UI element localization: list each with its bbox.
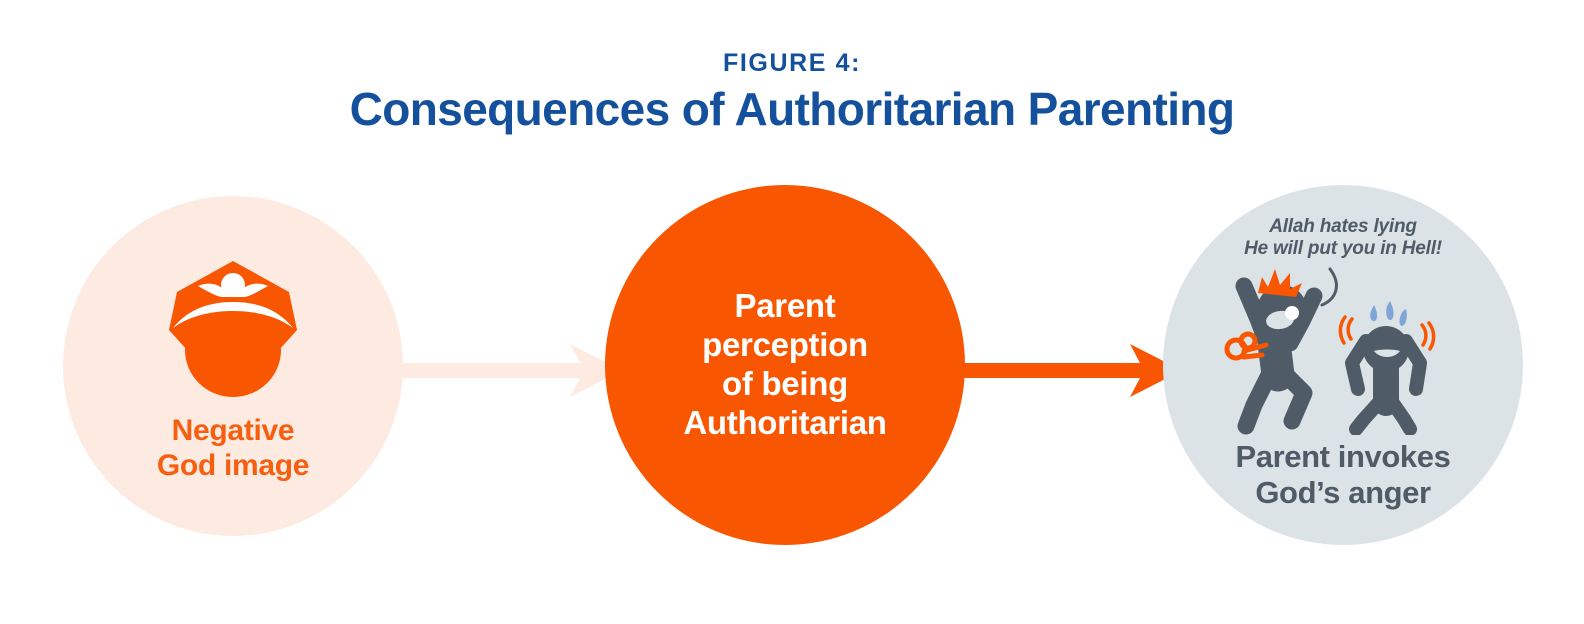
scared-child-figure [1340, 301, 1433, 429]
angry-parent-and-scared-child-icon [1218, 263, 1468, 435]
node-label-parent-perception: Parent perception of being Authoritarian [659, 287, 910, 443]
distress-drops [1370, 301, 1407, 326]
flow-arrow-negative-god-image-to-parent-perception [392, 340, 622, 400]
node-parent-invokes[interactable]: Allah hates lying He will put you in Hel… [1163, 185, 1523, 545]
flow-diagram: Negative God image Parent perception of … [0, 0, 1584, 624]
node-negative-god-image[interactable]: Negative God image [63, 196, 403, 536]
arrow-shape-light [392, 344, 622, 397]
flow-arrow-parent-perception-to-parent-invokes [952, 340, 1182, 400]
speech-text-allah-hates-lying: Allah hates lying He will put you in Hel… [1244, 216, 1442, 261]
node-label-parent-invokes: Parent invokes God’s anger [1236, 439, 1451, 511]
node-parent-perception[interactable]: Parent perception of being Authoritarian [605, 185, 965, 545]
police-cap-icon [161, 258, 305, 398]
arrow-shape-solid [952, 344, 1182, 397]
angry-parent-figure [1227, 269, 1314, 426]
node-label-negative-god-image: Negative God image [157, 414, 309, 484]
node-label-line-1: Negative God image [157, 414, 309, 482]
